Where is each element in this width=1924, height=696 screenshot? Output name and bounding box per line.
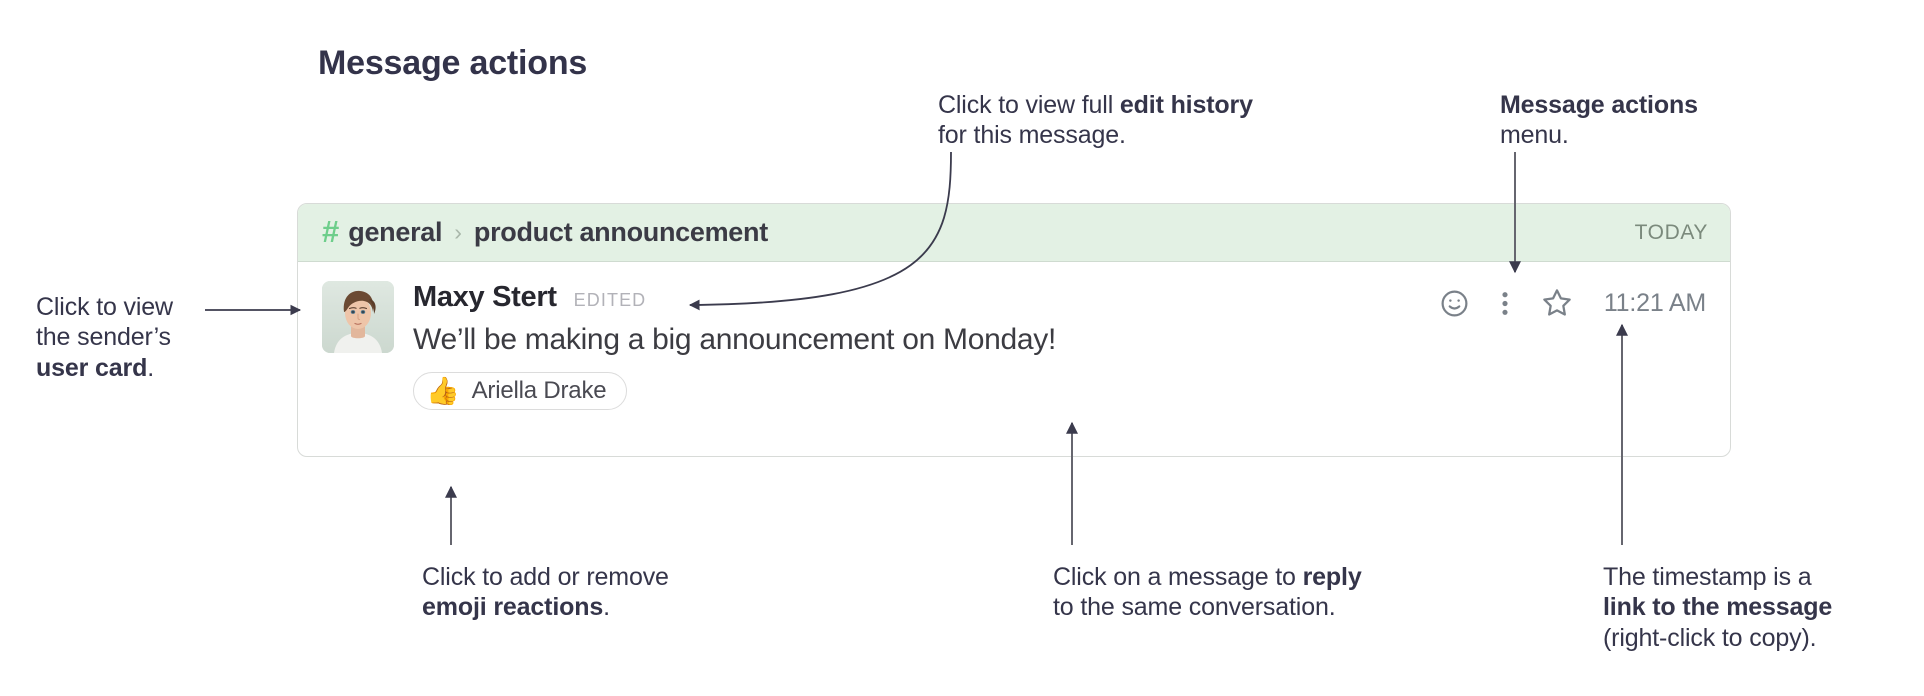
emoji-reaction-pill[interactable]: 👍 Ariella Drake bbox=[413, 372, 627, 410]
annotation-line: The timestamp is a bbox=[1603, 563, 1811, 591]
annotation-line: for this message. bbox=[938, 121, 1126, 149]
annotation-reply: Click on a message to reply to the same … bbox=[1053, 562, 1453, 623]
annotation-message-actions: Message actions menu. bbox=[1500, 90, 1800, 151]
annotation-edit-history: Click to view full edit history for this… bbox=[938, 90, 1358, 151]
annotation-line: the sender’s bbox=[36, 323, 171, 351]
annotation-line: (right-click to copy). bbox=[1603, 624, 1816, 652]
avatar-photo bbox=[322, 281, 394, 353]
annotation-timestamp: The timestamp is a link to the message (… bbox=[1603, 562, 1913, 653]
annotation-line: to the same conversation. bbox=[1053, 593, 1336, 621]
avatar[interactable] bbox=[322, 281, 394, 353]
message-text[interactable]: We’ll be making a big announcement on Mo… bbox=[413, 322, 1706, 358]
reaction-user-name: Ariella Drake bbox=[472, 377, 607, 405]
annotation-emphasis: user card bbox=[36, 354, 147, 382]
annotation-tail: . bbox=[147, 354, 154, 382]
date-label: TODAY bbox=[1635, 221, 1708, 245]
annotation-emphasis: Message actions bbox=[1500, 91, 1698, 119]
annotation-line: Click to add or remove bbox=[422, 563, 669, 591]
edited-label[interactable]: EDITED bbox=[574, 290, 647, 311]
annotation-line: Click to view full bbox=[938, 91, 1120, 119]
smiley-face-icon[interactable] bbox=[1439, 288, 1470, 319]
thumbs-up-emoji: 👍 bbox=[426, 378, 460, 405]
annotation-emphasis: emoji reactions bbox=[422, 593, 603, 621]
annotation-line: Click to view bbox=[36, 293, 173, 321]
reaction-row: 👍 Ariella Drake bbox=[413, 372, 1706, 410]
annotation-line: Click on a message to bbox=[1053, 563, 1303, 591]
topic-name[interactable]: product announcement bbox=[474, 217, 768, 248]
message-actions-toolbar: 11:21 AM bbox=[1439, 286, 1706, 320]
sender-name[interactable]: Maxy Stert bbox=[413, 281, 557, 314]
annotation-emoji-reactions: Click to add or remove emoji reactions. bbox=[422, 562, 762, 623]
star-outline-icon[interactable] bbox=[1540, 286, 1574, 320]
annotation-emphasis: edit history bbox=[1120, 91, 1253, 119]
annotation-user-card: Click to view the sender’s user card. bbox=[36, 292, 266, 383]
message-row[interactable]: Maxy Stert EDITED We’ll be making a big … bbox=[298, 262, 1730, 410]
channel-header: # general › product announcement TODAY bbox=[298, 204, 1730, 262]
message-timestamp[interactable]: 11:21 AM bbox=[1604, 289, 1706, 318]
chat-message-card: # general › product announcement TODAY bbox=[297, 203, 1731, 457]
vertical-dots-icon[interactable] bbox=[1500, 288, 1510, 319]
breadcrumb-separator-icon: › bbox=[454, 219, 462, 246]
channel-name[interactable]: general bbox=[348, 217, 442, 248]
page-title: Message actions bbox=[318, 44, 587, 83]
annotation-emphasis: reply bbox=[1303, 563, 1362, 591]
annotation-line: menu. bbox=[1500, 121, 1569, 149]
annotation-emphasis: link to the message bbox=[1603, 593, 1832, 621]
hash-icon: # bbox=[322, 216, 339, 247]
annotation-tail: . bbox=[603, 593, 610, 621]
